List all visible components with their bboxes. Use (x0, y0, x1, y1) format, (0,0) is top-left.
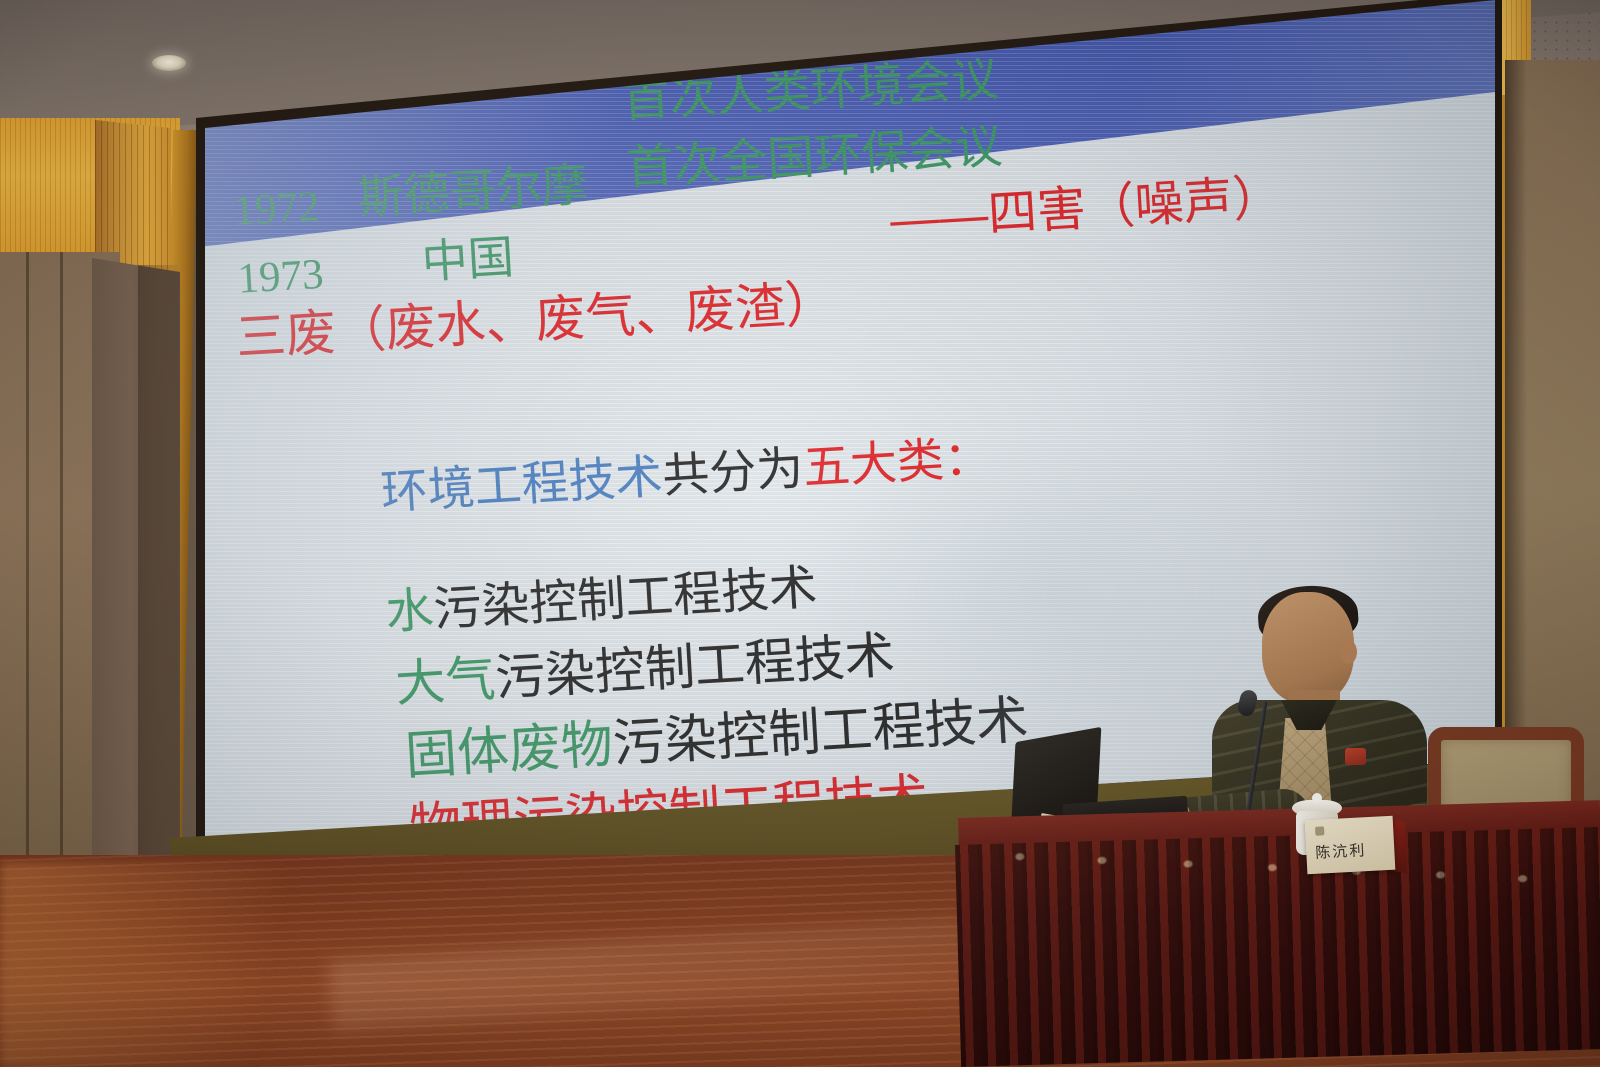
ceiling-downlight-icon (152, 55, 186, 71)
jacket-logo-icon (1345, 748, 1366, 765)
category-heading-count: 五大类： (802, 430, 993, 494)
timeline-year-2: 1973 (236, 253, 324, 301)
sanfei-line: 三废（废水、废气、废渣） (235, 278, 837, 363)
lecture-hall-photo: 首次人类环境会议 1972 斯德哥尔摩 首次全国环保会议 1973 中国 ——四… (0, 0, 1600, 1067)
timeline-place-1: 斯德哥尔摩 (357, 161, 589, 220)
wood-trim-corner (95, 120, 170, 272)
conference-table-skirt (955, 827, 1600, 1067)
sihai-line: ——四害（噪声） (889, 174, 1283, 246)
speaker-ear (1340, 640, 1357, 664)
name-card-text: 陈沆利 (1315, 838, 1391, 863)
category-heading-subject: 环境工程技术 (379, 449, 664, 518)
name-card: 陈沆利 (1305, 816, 1396, 875)
teacup-knob (1312, 793, 1322, 803)
timeline-place-2: 中国 (421, 234, 516, 285)
name-card-emblem-icon (1315, 826, 1324, 835)
wall-column-shadow (138, 265, 178, 890)
category-heading-verb: 共分为 (661, 441, 805, 502)
timeline-year-1: 1972 (232, 185, 320, 233)
